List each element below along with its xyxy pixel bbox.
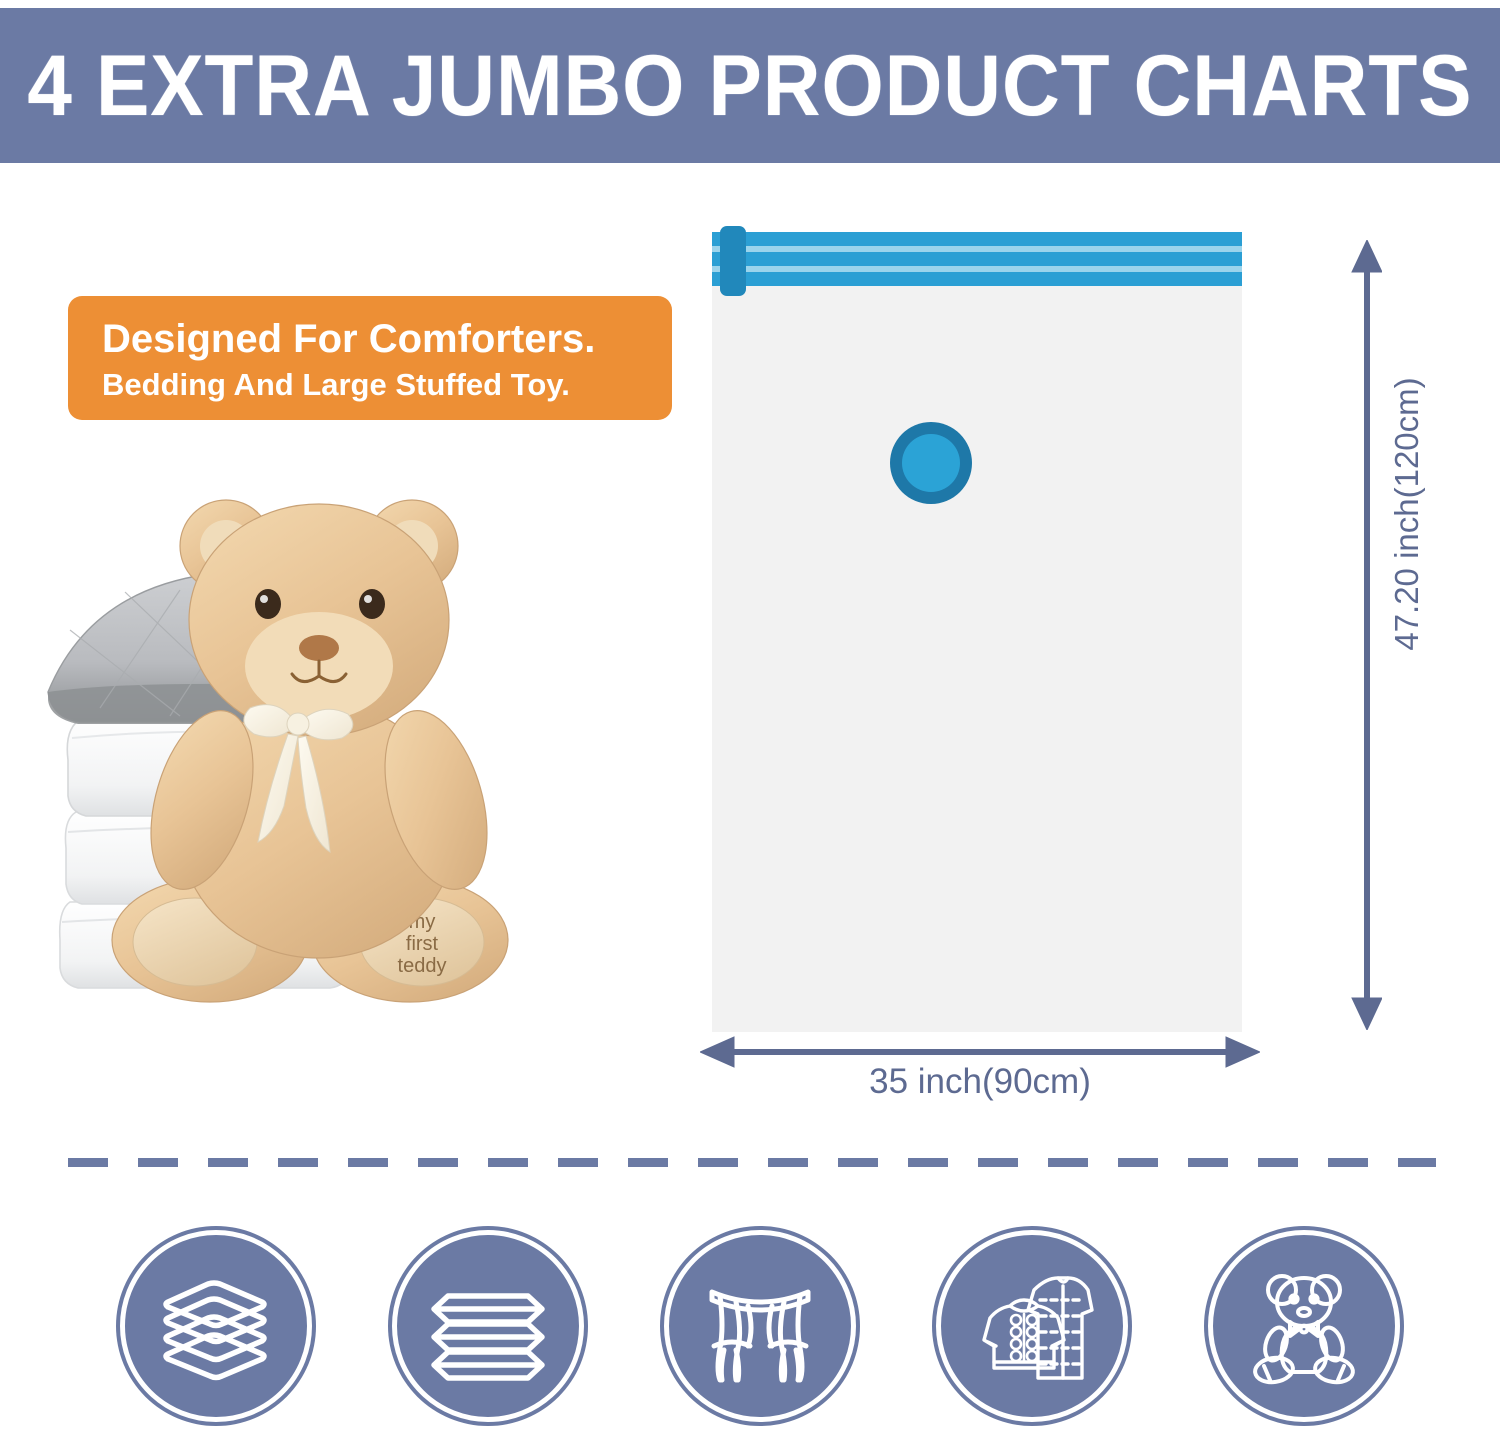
- section-divider: [68, 1158, 1436, 1167]
- product-photo: my first teddy: [30, 470, 710, 1030]
- teddy-bear-icon: [1208, 1230, 1400, 1422]
- stacked-pillows-icon: [392, 1230, 584, 1422]
- width-dimension-label: 35 inch(90cm): [700, 1062, 1260, 1102]
- zipper-band: [712, 252, 1242, 266]
- clothing-icon: [936, 1230, 1128, 1422]
- folded-towels-icon: [120, 1230, 312, 1422]
- use-case-icon-row: [120, 1226, 1400, 1426]
- vacuum-bag-illustration: [712, 232, 1242, 1032]
- bag-body: [712, 286, 1242, 1032]
- zipper-band: [712, 232, 1242, 246]
- height-dimension-label: 47.20 inch(120cm): [1388, 349, 1426, 679]
- teddy-foot-text-line2: first: [406, 933, 439, 955]
- promo-badge: Designed For Comforters. Bedding And Lar…: [68, 296, 672, 420]
- zipper-slider-icon: [720, 226, 746, 296]
- promo-badge-headline: Designed For Comforters.: [102, 316, 650, 362]
- air-valve-icon: [890, 422, 972, 504]
- curtains-icon: [664, 1230, 856, 1422]
- page-title: 4 EXTRA JUMBO PRODUCT CHARTS: [27, 43, 1472, 129]
- height-dimension: 47.20 inch(120cm): [1272, 240, 1382, 1030]
- promo-badge-subline: Bedding And Large Stuffed Toy.: [102, 366, 650, 403]
- zipper-band: [712, 272, 1242, 286]
- air-valve-inner: [902, 434, 960, 492]
- teddy-foot-text-line3: teddy: [398, 955, 447, 977]
- header-banner: 4 EXTRA JUMBO PRODUCT CHARTS: [0, 8, 1500, 163]
